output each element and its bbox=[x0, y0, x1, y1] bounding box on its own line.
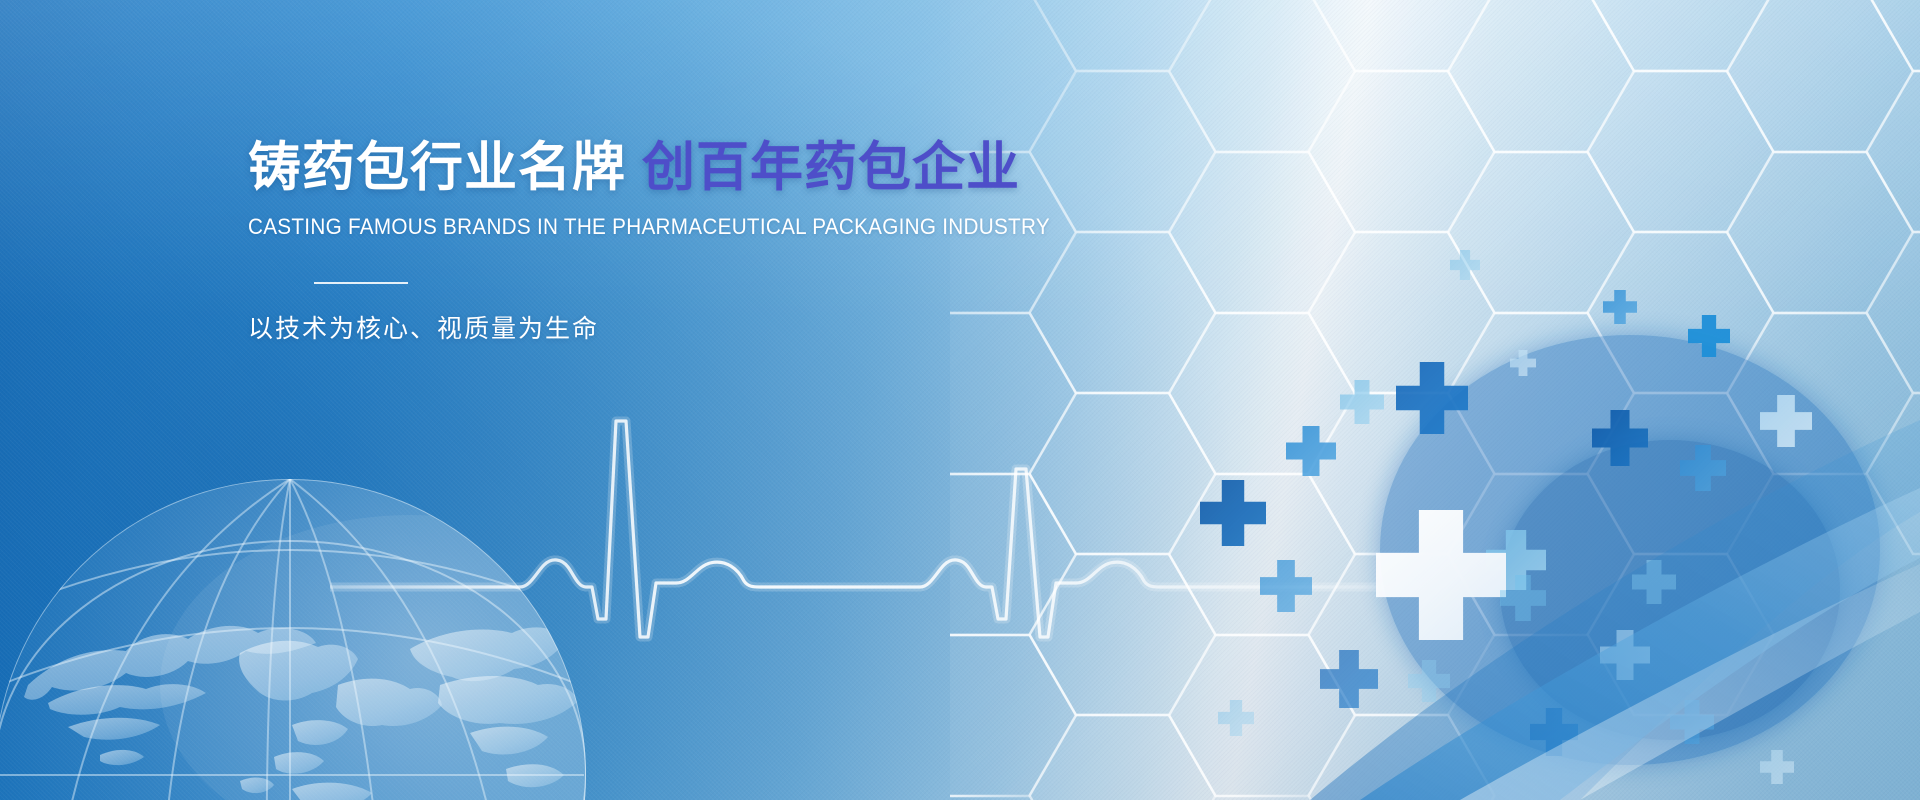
headline-segment-white: 铸药包行业名牌 bbox=[248, 138, 626, 197]
page-title: 铸药包行业名牌创百年药包企业 bbox=[248, 138, 1008, 197]
curved-ribbon-swoosh bbox=[1160, 380, 1920, 800]
english-subtitle: CASTING FAMOUS BRANDS IN THE PHARMACEUTI… bbox=[248, 214, 947, 240]
hero-text-block: 铸药包行业名牌创百年药包企业 CASTING FAMOUS BRANDS IN … bbox=[248, 138, 1008, 345]
divider-rule bbox=[314, 282, 408, 284]
hero-banner: 铸药包行业名牌创百年药包企业 CASTING FAMOUS BRANDS IN … bbox=[0, 0, 1920, 800]
headline-segment-purple: 创百年药包企业 bbox=[642, 138, 1020, 197]
chinese-tagline: 以技术为核心、视质量为生命 bbox=[248, 309, 1008, 345]
